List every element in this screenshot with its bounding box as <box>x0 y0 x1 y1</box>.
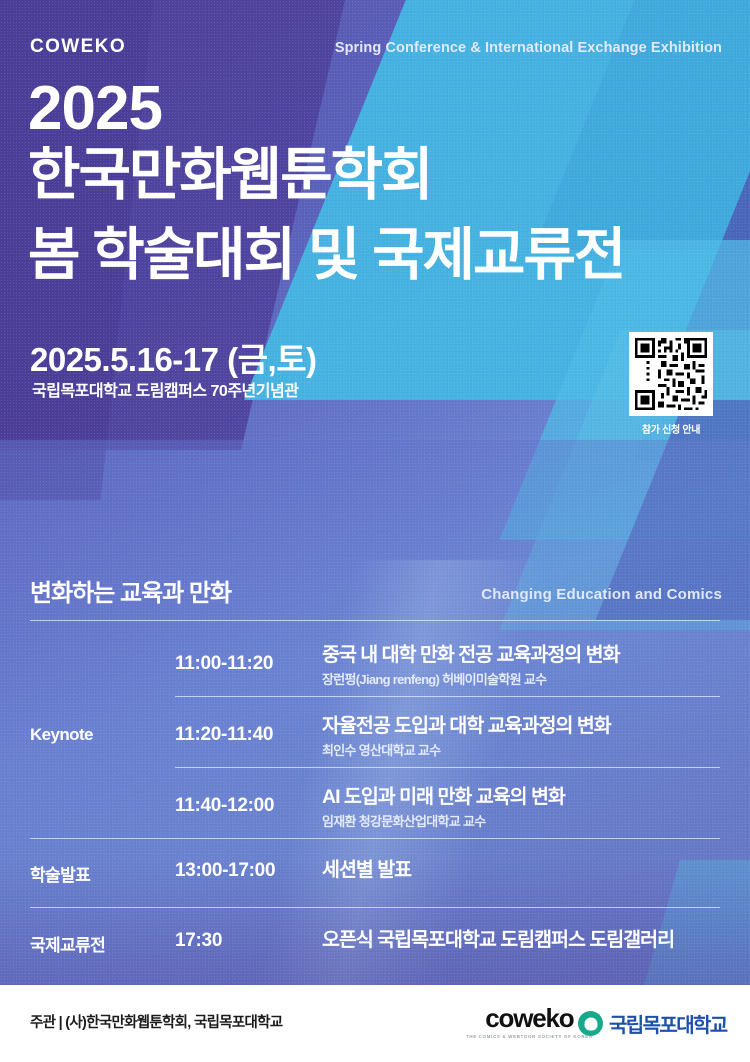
schedule-time: 13:00-17:00 <box>175 860 320 882</box>
schedule-divider-middle <box>30 838 720 839</box>
event-title-line-2: 봄 학술대회 및 국제교류전 <box>28 226 624 286</box>
schedule-speaker: 최인수 영산대학교 교수 <box>322 740 722 759</box>
schedule-speaker: 임재환 청강문화산업대학교 교수 <box>322 811 722 830</box>
mokpo-national-university-logo: 국립목포대학교 <box>578 1009 727 1038</box>
schedule-divider-keynote-1 <box>175 696 720 697</box>
event-title-line-1: 한국만화웹툰학회 <box>28 146 432 206</box>
coweko-logo-wordmark: coweko <box>466 1005 593 1031</box>
schedule-session-title: 자율전공 도입과 대학 교육과정의 변화 <box>322 715 722 737</box>
schedule-divider-bottom <box>30 907 720 908</box>
table-row: 학술발표 13:00-17:00 세션별 발표 <box>0 845 750 905</box>
university-emblem-icon <box>578 1011 603 1036</box>
schedule-time: 11:40-12:00 <box>175 795 320 817</box>
schedule-time: 11:20-11:40 <box>175 724 320 746</box>
event-year: 2025 <box>28 78 162 140</box>
schedule-category: 학술발표 <box>30 861 175 886</box>
poster-footer: 주관 | (사)한국만화웹툰학회, 국립목포대학교 coweko THE COM… <box>0 985 750 1062</box>
schedule-divider-keynote-2 <box>175 767 720 768</box>
table-row: Keynote 11:20-11:40 자율전공 도입과 대학 교육과정의 변화… <box>0 703 750 773</box>
table-row: 11:40-12:00 AI 도입과 미래 만화 교육의 변화 임재환 청강문화… <box>0 774 750 844</box>
theme-title-english: Changing Education and Comics <box>481 586 722 603</box>
table-row: 11:00-11:20 중국 내 대학 만화 전공 교육과정의 변화 장런펑(J… <box>0 632 750 702</box>
schedule-session-title: 중국 내 대학 만화 전공 교육과정의 변화 <box>322 644 722 666</box>
brand-logotype: COWEKO <box>30 36 126 58</box>
theme-title-korean: 변화하는 교육과 만화 <box>30 573 231 608</box>
schedule-category: Keynote <box>30 725 175 745</box>
qr-caption: 참가 신청 안내 <box>629 421 713 436</box>
schedule-time: 17:30 <box>175 930 320 952</box>
schedule-detail: 중국 내 대학 만화 전공 교육과정의 변화 장런펑(Jiang renfeng… <box>322 644 722 688</box>
registration-qr-block[interactable]: 참가 신청 안내 <box>629 332 713 436</box>
coweko-logo-tagline: THE COMICS & WEBTOON SOCIETY OF KOREA <box>466 1034 593 1039</box>
table-row: 국제교류전 17:30 오픈식 국립목포대학교 도림캠퍼스 도림갤러리 <box>0 915 750 975</box>
schedule-divider-top <box>30 620 720 621</box>
university-logo-name: 국립목포대학교 <box>609 1009 727 1038</box>
qr-code-icon[interactable] <box>629 332 713 416</box>
schedule-session-title: AI 도입과 미래 만화 교육의 변화 <box>322 786 722 808</box>
coweko-logo: coweko THE COMICS & WEBTOON SOCIETY OF K… <box>466 1005 593 1039</box>
event-date: 2025.5.16-17 (금,토) <box>30 333 317 381</box>
english-subtitle: Spring Conference & International Exchan… <box>335 40 722 56</box>
schedule-detail: AI 도입과 미래 만화 교육의 변화 임재환 청강문화산업대학교 교수 <box>322 786 722 830</box>
schedule-session-title: 세션별 발표 <box>322 859 722 881</box>
schedule-detail: 세션별 발표 <box>322 859 722 881</box>
schedule-speaker: 장런펑(Jiang renfeng) 허베이미술학원 교수 <box>322 669 722 688</box>
schedule-session-title: 오픈식 국립목포대학교 도림캠퍼스 도림갤러리 <box>322 929 722 951</box>
schedule-detail: 오픈식 국립목포대학교 도림캠퍼스 도림갤러리 <box>322 929 722 951</box>
schedule-time: 11:00-11:20 <box>175 653 320 675</box>
schedule-detail: 자율전공 도입과 대학 교육과정의 변화 최인수 영산대학교 교수 <box>322 715 722 759</box>
conference-poster: COWEKO Spring Conference & International… <box>0 0 750 1062</box>
schedule-category: 국제교류전 <box>30 931 175 956</box>
host-organizations: 주관 | (사)한국만화웹툰학회, 국립목포대학교 <box>30 1011 282 1032</box>
event-venue: 국립목포대학교 도림캠퍼스 70주년기념관 <box>32 377 298 401</box>
